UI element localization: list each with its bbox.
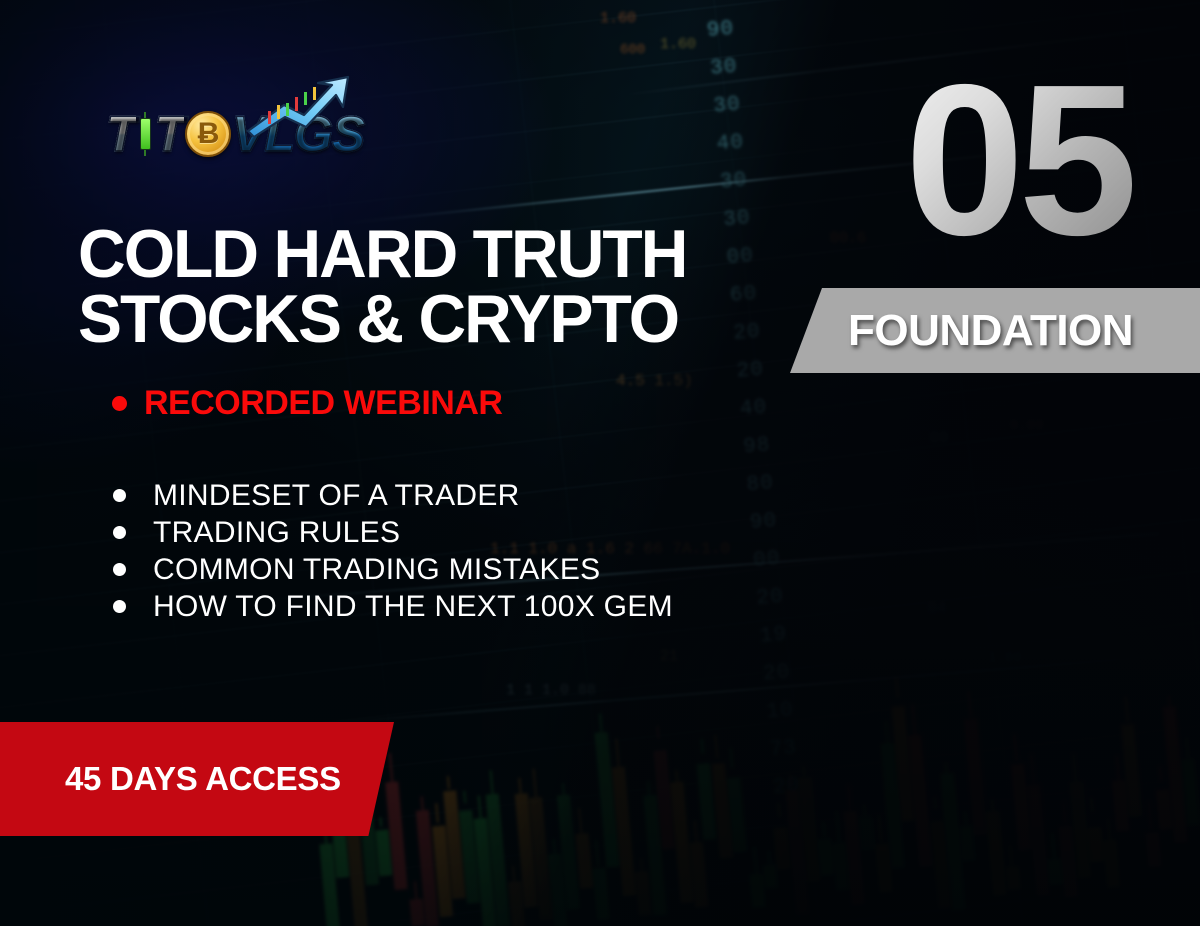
bullet-dot-icon: [113, 489, 126, 502]
foundation-ribbon: FOUNDATION: [790, 288, 1200, 373]
module-number: 05: [905, 52, 1132, 267]
topic-list: MINDESET OF A TRADERTRADING RULESCOMMON …: [113, 477, 673, 625]
logo-letter-t1: T: [106, 109, 136, 159]
logo-letter-t2: T: [155, 109, 185, 159]
list-item: COMMON TRADING MISTAKES: [113, 551, 673, 588]
list-item: MINDESET OF A TRADER: [113, 477, 673, 514]
list-item: HOW TO FIND THE NEXT 100X GEM: [113, 588, 673, 625]
access-duration-banner: 45 DAYS ACCESS: [0, 722, 394, 836]
bullet-dot-icon: [113, 563, 126, 576]
bitcoin-symbol: Ƀ: [198, 119, 219, 149]
bullet-dot-icon: [113, 526, 126, 539]
bitcoin-coin-icon: Ƀ: [185, 111, 231, 157]
list-item-label: MINDESET OF A TRADER: [153, 479, 520, 513]
promo-card: 9030304030300060202040988090002019201073…: [0, 0, 1200, 926]
access-duration-label: 45 DAYS ACCESS: [65, 760, 341, 798]
green-candlestick-icon: [139, 112, 152, 156]
logo-letters-vl: VL: [232, 109, 294, 159]
bullet-dot-icon: [113, 600, 126, 613]
list-item-label: HOW TO FIND THE NEXT 100X GEM: [153, 590, 673, 624]
logo-letters-gs: GS: [294, 109, 364, 159]
list-item-label: COMMON TRADING MISTAKES: [153, 553, 600, 587]
eyebrow-text: RECORDED WEBINAR: [144, 384, 502, 423]
recorded-webinar-label: RECORDED WEBINAR: [112, 384, 502, 423]
ribbon-label: FOUNDATION: [848, 306, 1133, 356]
headline-line-2: STOCKS & CRYPTO: [78, 287, 718, 352]
brand-logo[interactable]: T T Ƀ VL GS: [106, 103, 364, 165]
headline-block: COLD HARD TRUTH STOCKS & CRYPTO: [78, 222, 738, 353]
red-bullet-icon: [112, 396, 127, 411]
list-item: TRADING RULES: [113, 514, 673, 551]
list-item-label: TRADING RULES: [153, 516, 400, 550]
headline-line-1: COLD HARD TRUTH: [78, 222, 718, 287]
